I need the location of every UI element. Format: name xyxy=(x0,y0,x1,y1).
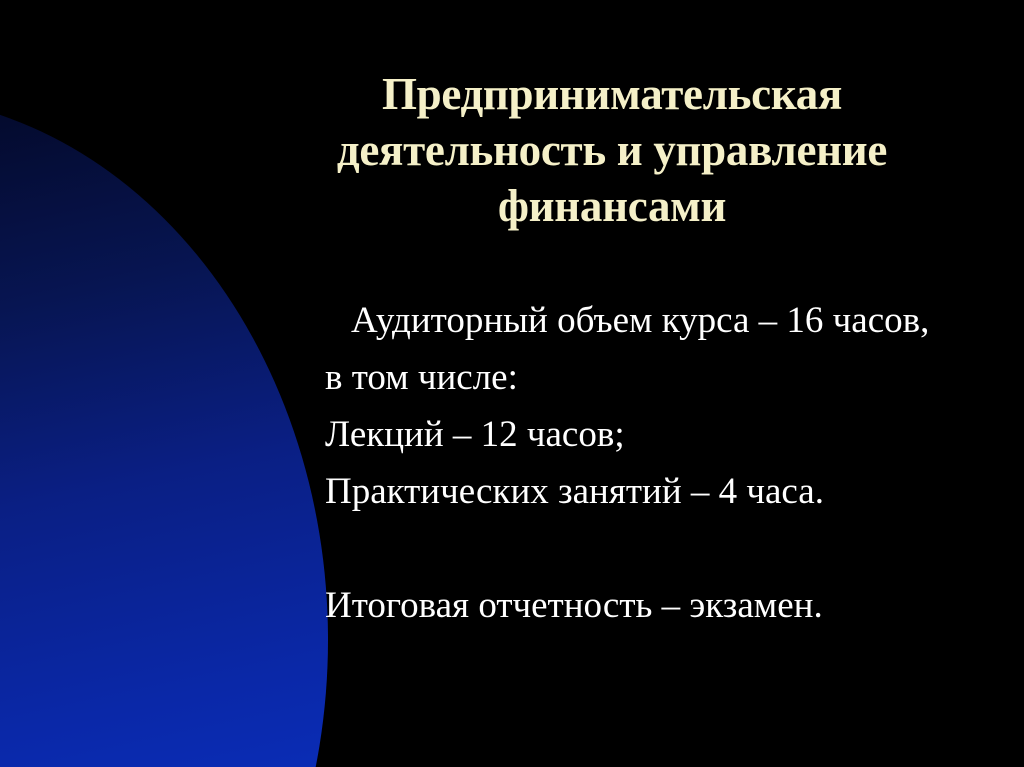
body-line-course-hours: Аудиторный объем курса – 16 часов, xyxy=(325,292,1005,349)
title-line-3: финансами xyxy=(140,178,1024,234)
slide-body: Аудиторный объем курса – 16 часов, в том… xyxy=(325,292,1005,634)
presentation-slide: Предпринимательская деятельность и управ… xyxy=(0,0,1024,767)
title-line-2: деятельность и управление xyxy=(140,122,1024,178)
title-line-1: Предпринимательская xyxy=(140,66,1024,122)
slide-title: Предпринимательская деятельность и управ… xyxy=(140,66,1024,234)
body-line-lectures: Лекций – 12 часов; xyxy=(325,406,1005,463)
body-line-final-assessment: Итоговая отчетность – экзамен. xyxy=(325,577,1005,634)
body-line-practicals: Практических занятий – 4 часа. xyxy=(325,463,1005,520)
body-line-including: в том числе: xyxy=(325,349,1005,406)
